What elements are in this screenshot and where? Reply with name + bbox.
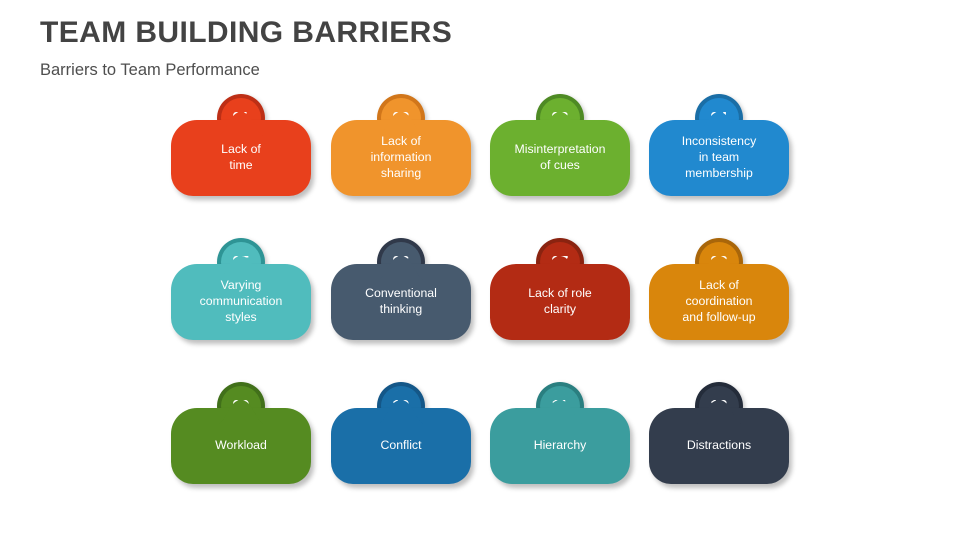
slide-canvas: TEAM BUILDING BARRIERS Barriers to Team … [0, 0, 960, 540]
barrier-card-11[interactable]: Hierarchy11 [490, 382, 630, 484]
card-label-05: Varying communication styles [200, 278, 283, 325]
card-neck-03 [538, 110, 582, 136]
barriers-grid: Lack of time01Lack of information sharin… [171, 94, 791, 514]
barrier-card-12[interactable]: Distractions12 [649, 382, 789, 484]
card-label-04: Inconsistency in team membership [682, 134, 757, 181]
card-label-08: Lack of coordination and follow-up [682, 278, 755, 325]
barrier-card-04[interactable]: Inconsistency in team membership04 [649, 94, 789, 196]
card-label-12: Distractions [687, 438, 751, 454]
card-neck-01 [219, 110, 263, 136]
card-label-03: Misinterpretation of cues [515, 142, 606, 173]
card-neck-08 [697, 254, 741, 280]
barrier-card-03[interactable]: Misinterpretation of cues03 [490, 94, 630, 196]
card-neck-12 [697, 398, 741, 424]
card-neck-07 [538, 254, 582, 280]
card-label-10: Conflict [380, 438, 421, 454]
barrier-card-06[interactable]: Conventional thinking06 [331, 238, 471, 340]
page-title: TEAM BUILDING BARRIERS [40, 16, 920, 51]
card-label-01: Lack of time [221, 142, 261, 173]
card-neck-09 [219, 398, 263, 424]
card-label-06: Conventional thinking [365, 286, 437, 317]
card-neck-10 [379, 398, 423, 424]
barrier-card-07[interactable]: Lack of role clarity07 [490, 238, 630, 340]
barrier-card-08[interactable]: Lack of coordination and follow-up08 [649, 238, 789, 340]
card-neck-02 [379, 110, 423, 136]
card-label-09: Workload [215, 438, 267, 454]
card-label-02: Lack of information sharing [371, 134, 432, 181]
slide-header: TEAM BUILDING BARRIERS Barriers to Team … [40, 16, 920, 79]
barrier-card-10[interactable]: Conflict10 [331, 382, 471, 484]
barrier-card-05[interactable]: Varying communication styles05 [171, 238, 311, 340]
card-neck-05 [219, 254, 263, 280]
card-neck-04 [697, 110, 741, 136]
page-subtitle: Barriers to Team Performance [40, 61, 920, 80]
card-label-07: Lack of role clarity [528, 286, 592, 317]
card-label-11: Hierarchy [534, 438, 587, 454]
barrier-card-01[interactable]: Lack of time01 [171, 94, 311, 196]
barrier-card-09[interactable]: Workload09 [171, 382, 311, 484]
card-neck-11 [538, 398, 582, 424]
barrier-card-02[interactable]: Lack of information sharing02 [331, 94, 471, 196]
card-neck-06 [379, 254, 423, 280]
